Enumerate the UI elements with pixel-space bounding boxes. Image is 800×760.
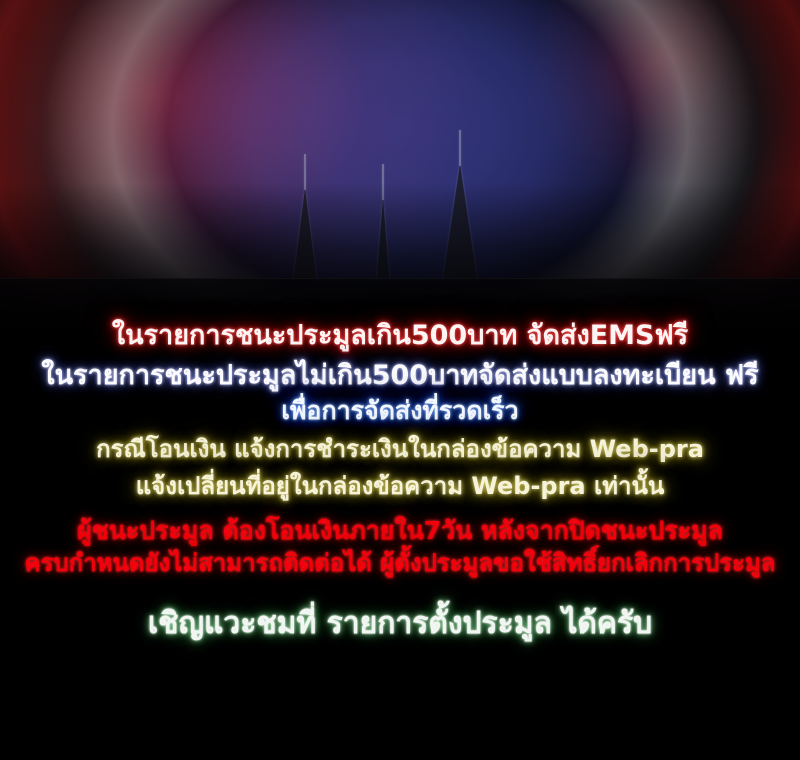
line-fast-delivery: เพื่อการจัดส่งที่รวดเร็ว xyxy=(0,398,800,423)
line-visit-listings: เชิญแวะชมที่ รายการตั้งประมูล ได้ครับ xyxy=(0,609,800,639)
line-cancellation-right: ครบกำหนดยังไม่สามารถติดต่อได้ ผู้ตั้งประ… xyxy=(0,551,800,575)
shipping-terms-text-block: ในรายการชนะประมูลเกิน500บาท จัดส่งEMSฟรี… xyxy=(0,322,800,639)
line-address-change: แจ้งเปลี่ยนที่อยู่ในกล่องข้อความ Web-pra… xyxy=(0,474,800,498)
line-ems-free: ในรายการชนะประมูลเกิน500บาท จัดส่งEMSฟรี xyxy=(0,322,800,349)
line-registered-free: ในรายการชนะประมูลไม่เกิน500บาทจัดส่งแบบล… xyxy=(0,362,800,389)
banner-image: ในรายการชนะประมูลเกิน500บาท จัดส่งEMSฟรี… xyxy=(0,0,800,760)
temple-icon xyxy=(0,80,800,340)
line-transfer-notify: กรณีโอนเงิน แจ้งการชำระเงินในกล่องข้อควา… xyxy=(0,437,800,461)
line-payment-deadline: ผู้ชนะประมูล ต้องโอนเงินภายใน7วัน หลังจา… xyxy=(0,518,800,543)
